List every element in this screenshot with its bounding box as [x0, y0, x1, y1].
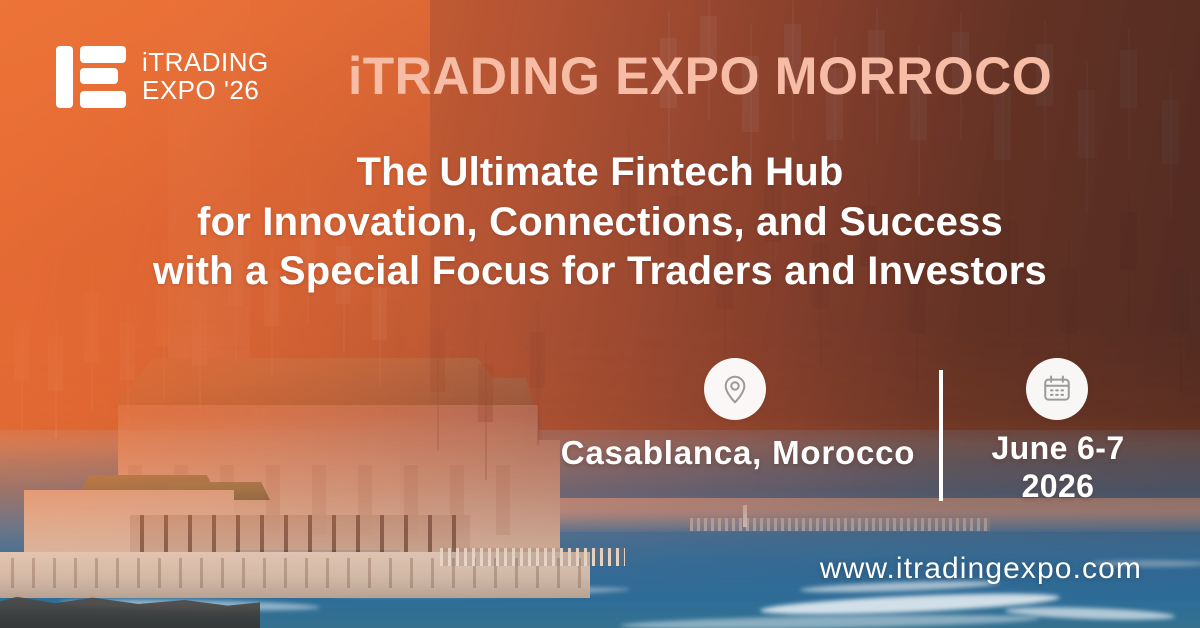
event-info-strip: Casablanca, Morocco June 6-7 2026 — [0, 358, 1200, 518]
tagline: The Ultimate Fintech Hub for Innovation,… — [0, 148, 1200, 297]
event-location: Casablanca, Morocco — [500, 434, 976, 472]
ie-monogram-icon — [56, 46, 126, 108]
tagline-line-1: The Ultimate Fintech Hub — [0, 148, 1200, 198]
calendar-icon — [1026, 358, 1088, 420]
page-title: iTRADING EXPO MORROCO — [348, 46, 1052, 107]
event-date: June 6-7 2026 — [962, 430, 1154, 506]
brand-logo-line2: EXPO '26 — [142, 77, 269, 105]
monogram-bar — [56, 46, 73, 108]
monogram-e — [80, 46, 126, 108]
info-divider — [939, 370, 943, 501]
event-promo-banner: iTRADING EXPO '26 iTRADING EXPO MORROCO … — [0, 0, 1200, 628]
brand-logo[interactable]: iTRADING EXPO '26 — [56, 46, 269, 108]
tagline-line-3: with a Special Focus for Traders and Inv… — [0, 247, 1200, 297]
banner-content: iTRADING EXPO '26 iTRADING EXPO MORROCO … — [0, 0, 1200, 628]
brand-logo-text: iTRADING EXPO '26 — [142, 49, 269, 104]
tagline-line-2: for Innovation, Connections, and Success — [0, 198, 1200, 248]
event-date-line2: 2026 — [962, 468, 1154, 506]
website-url[interactable]: www.itradingexpo.com — [820, 552, 1142, 586]
event-date-line1: June 6-7 — [991, 430, 1124, 466]
map-pin-icon — [704, 358, 766, 420]
brand-logo-line1: iTRADING — [142, 49, 269, 77]
